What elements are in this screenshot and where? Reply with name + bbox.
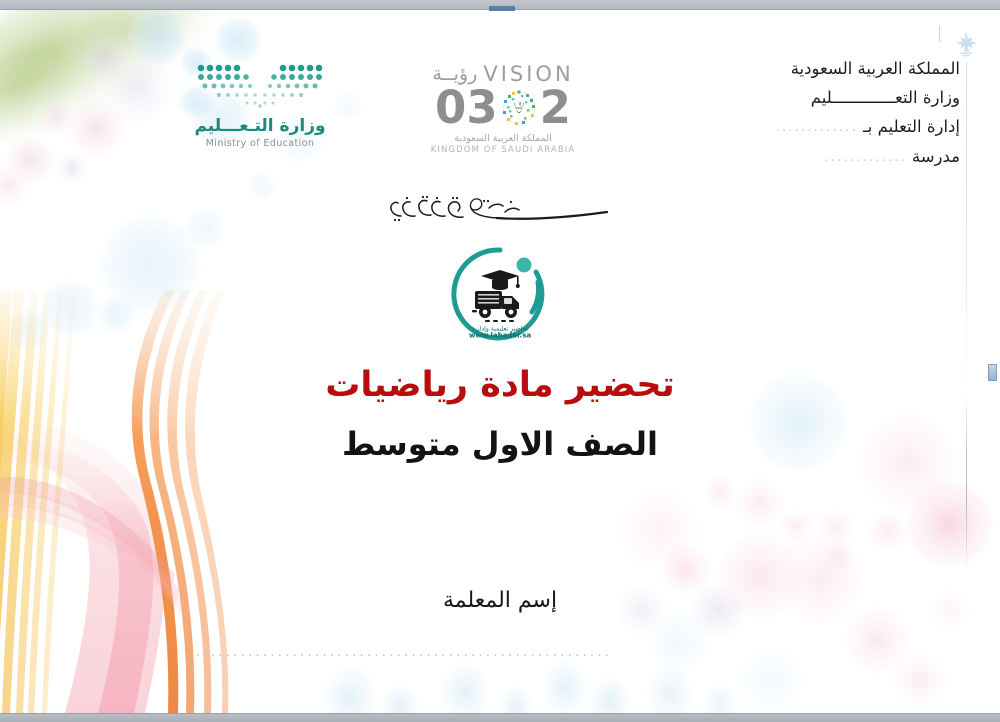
teacher-name-field[interactable]: ........................................… bbox=[196, 645, 609, 657]
subject-title: تحضير مادة رياضيات bbox=[0, 365, 1000, 405]
header-line-ministry: وزارة التعـــــــــــــليم bbox=[776, 83, 960, 112]
ministry-of-education-logo: وزارة التـعـــليم Ministry of Education bbox=[160, 62, 360, 149]
moe-dot-matrix-icon bbox=[195, 62, 325, 110]
header-line-department: إدارة التعليم بـ............. bbox=[776, 112, 960, 142]
department-dotted-field[interactable]: ............. bbox=[776, 113, 863, 142]
vision-number-row: 2 bbox=[408, 86, 598, 130]
document-page: المملكة العربية السعودية وزارة التعـــــ… bbox=[0, 10, 1000, 713]
document-viewer: المملكة العربية السعودية وزارة التعـــــ… bbox=[0, 0, 1000, 722]
badge-dot-icon bbox=[517, 258, 532, 273]
vision-digit-0: 0 bbox=[435, 86, 466, 130]
document-tab-indicator[interactable] bbox=[489, 6, 515, 11]
header-line-country-text: المملكة العربية السعودية bbox=[791, 59, 960, 78]
brand-badge-block: تحاضير تعليمية وإدارية www.lahader.sa bbox=[0, 242, 1000, 350]
badge-website: www.lahader.sa bbox=[469, 332, 531, 340]
header-line-ministry-text: وزارة التعـــــــــــــليم bbox=[811, 88, 960, 107]
header-line-school-text: مدرسة bbox=[912, 147, 960, 166]
right-margin-rule bbox=[966, 392, 967, 572]
vision-emblem-icon bbox=[499, 88, 539, 128]
grade-title: الصف الاول متوسط bbox=[0, 425, 1000, 463]
vision-2030-logo: VISION رؤيــة 2 bbox=[408, 62, 598, 155]
vision-subtitle-en: KINGDOM OF SAUDI ARABIA bbox=[408, 145, 598, 155]
header-line-school: مدرسة............. bbox=[776, 142, 960, 172]
moe-logo-arabic-text: وزارة التـعـــليم bbox=[160, 116, 360, 136]
lahader-badge-icon: تحاضير تعليمية وإدارية www.lahader.sa bbox=[448, 242, 552, 346]
teacher-name-label: إسم المعلمة bbox=[0, 588, 1000, 613]
header-line-country: المملكة العربية السعودية bbox=[776, 54, 960, 83]
moe-logo-english-text: Ministry of Education bbox=[160, 138, 360, 149]
vision-subtitle-ar: المملكة العربية السعودية bbox=[408, 133, 598, 144]
school-dotted-field[interactable]: ............. bbox=[825, 143, 912, 172]
vision-digit-2: 2 bbox=[540, 86, 571, 130]
basmala-calligraphy-icon bbox=[385, 186, 615, 234]
pink-tick-mark bbox=[939, 26, 940, 42]
vertical-scrollbar-thumb[interactable] bbox=[988, 364, 997, 381]
viewer-bottom-bar bbox=[0, 713, 1000, 722]
page-content: المملكة العربية السعودية وزارة التعـــــ… bbox=[0, 10, 1000, 713]
document-header-block: المملكة العربية السعودية وزارة التعـــــ… bbox=[776, 54, 960, 172]
vision-digit-3: 3 bbox=[466, 86, 497, 130]
header-line-department-text: إدارة التعليم بـ bbox=[863, 117, 960, 136]
basmala-block bbox=[0, 186, 1000, 238]
